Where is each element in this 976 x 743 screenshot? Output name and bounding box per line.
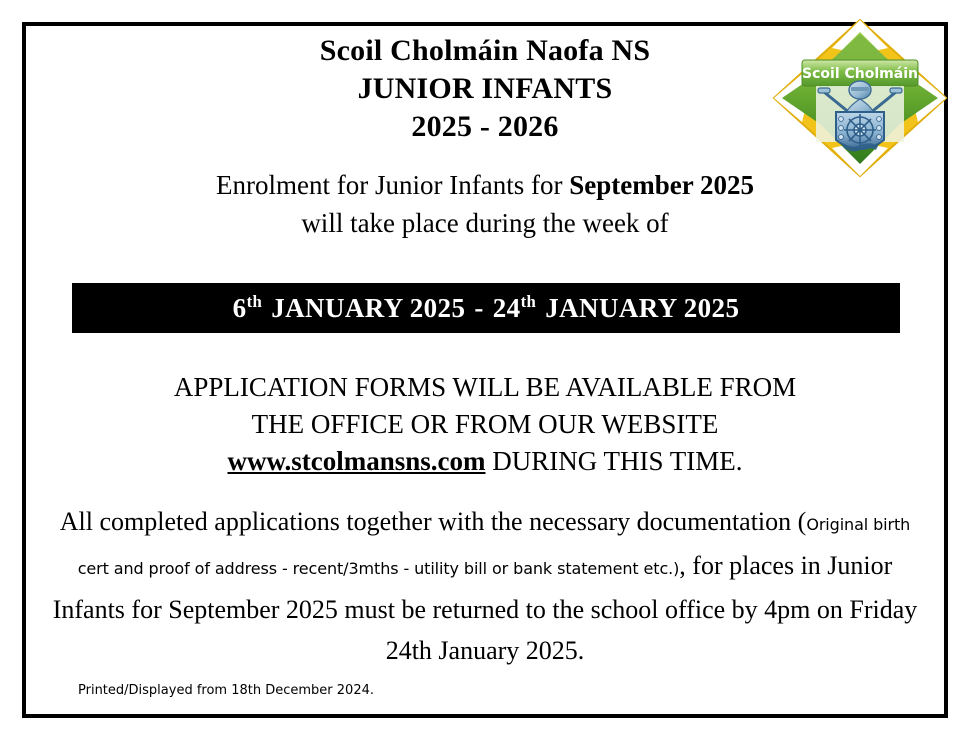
banner-end-month-year: JANUARY 2025: [545, 293, 739, 323]
application-forms-line-1: APPLICATION FORMS WILL BE AVAILABLE FROM: [26, 369, 944, 406]
printed-notice: Printed/Displayed from 18th December 202…: [78, 683, 374, 699]
banner-start-month-year: JANUARY 2025: [271, 293, 465, 323]
banner-separator: -: [474, 293, 483, 323]
enrolment-month-year: September 2025: [569, 170, 754, 200]
enrolment-dates-banner: 6thJANUARY 2025-24thJANUARY 2025: [72, 283, 900, 333]
school-crest-icon: Scoil Cholmáin: [768, 14, 952, 182]
application-forms-line-3: www.stcolmansns.com DURING THIS TIME.: [26, 443, 944, 480]
crest-motto-text: Scoil Cholmáin: [802, 66, 918, 82]
enrolment-line-1: Enrolment for Junior Infants for Septemb…: [26, 166, 944, 204]
banner-start-day: 6: [233, 293, 247, 323]
banner-start-ordinal: th: [247, 292, 263, 311]
final-paragraph-part-1: All completed applications together with…: [60, 507, 807, 536]
website-link[interactable]: www.stcolmansns.com: [227, 446, 485, 476]
notice-content: Scoil Cholmáin Naofa NS JUNIOR INFANTS 2…: [26, 26, 944, 714]
enrolment-line-2: will take place during the week of: [26, 204, 944, 242]
banner-date-range: 6thJANUARY 2025-24thJANUARY 2025: [233, 293, 740, 324]
application-forms-line-2: THE OFFICE OR FROM OUR WEBSITE: [26, 406, 944, 443]
enrolment-prefix: Enrolment for Junior Infants for: [216, 170, 569, 200]
banner-end-ordinal: th: [521, 292, 537, 311]
enrolment-statement: Enrolment for Junior Infants for Septemb…: [26, 166, 944, 242]
enrolment-notice-page: Scoil Cholmáin Naofa NS JUNIOR INFANTS 2…: [0, 0, 976, 743]
application-forms-suffix: DURING THIS TIME.: [486, 446, 743, 476]
banner-end-day: 24: [493, 293, 521, 323]
final-instructions-paragraph: All completed applications together with…: [42, 501, 928, 671]
application-forms-block: APPLICATION FORMS WILL BE AVAILABLE FROM…: [26, 369, 944, 480]
